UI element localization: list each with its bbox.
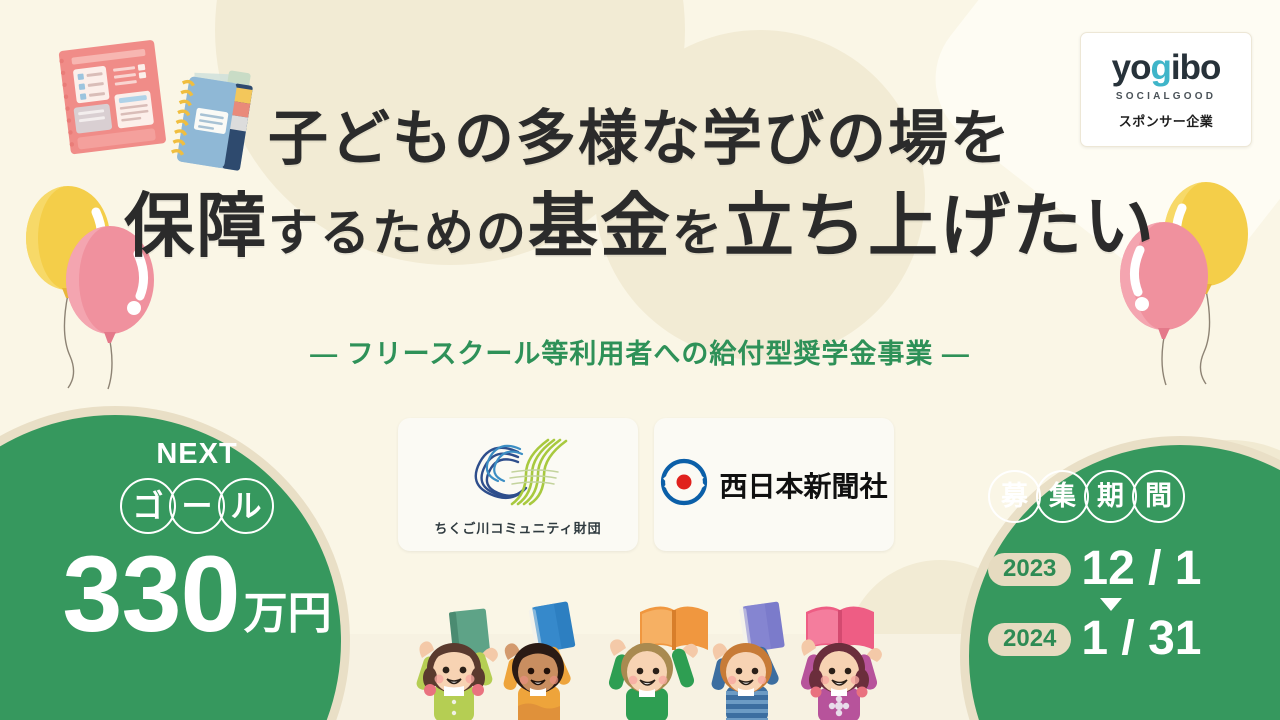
nishinippon-lockup: 西日本新聞社 [660,458,887,511]
page-subtitle: — フリースクール等利用者への給付型奨学金事業 — [0,332,1280,371]
banner-root: 子どもの多様な学びの場を 保障するための基金を立ち上げたい — フリースクール等… [0,0,1280,720]
nishinippon-swirl-logo-icon [660,458,708,511]
period-start-row: 2023 12 / 1 [988,545,1238,593]
yogibo-logo-icon: yogibo [1112,50,1221,85]
period-end-year: 2024 [988,623,1071,656]
title-emph-hosho: 保障 [124,187,268,265]
period-chip: 間 [1132,470,1185,523]
title-particle-wo: を [672,205,724,261]
partner-card-chikugogawa[interactable]: ちくご川コミュニティ財団 [398,418,638,551]
period-chip: 集 [1036,470,1089,523]
triangle-down-icon [1100,598,1122,611]
goal-chip: ゴ [120,478,176,534]
yogibo-brand-pre: yo [1112,50,1151,85]
period-start-year: 2023 [988,553,1071,586]
sponsor-tagline: SOCIALGOOD [1116,91,1216,102]
application-period-block: 募 集 期 間 2023 12 / 1 2024 1 / 31 [988,470,1238,663]
goal-amount-unit: 万円 [240,592,332,641]
period-chip: 募 [988,470,1041,523]
title-emph-kikin: 基金 [528,187,672,265]
next-goal-block: NEXT ゴ ー ル 330 万円 [52,440,342,641]
partner-logo-cards: ちくご川コミュニティ財団 西日本新聞社 [398,418,894,551]
goal-chip-row: ゴ ー ル [52,478,342,534]
next-label: NEXT [52,440,342,469]
sponsor-card[interactable]: yogibo SOCIALGOOD スポンサー企業 [1080,32,1252,147]
goal-chip: ー [169,478,225,534]
title-emph-tachiage: 立ち上げたい [724,187,1156,265]
goal-chip: ル [218,478,274,534]
period-end-row: 2024 1 / 31 [988,615,1238,663]
period-start-date: 12 / 1 [1081,545,1201,593]
partner-card-nishinippon[interactable]: 西日本新聞社 [654,418,894,551]
chikugogawa-river-logo-icon [460,432,576,511]
goal-amount-row: 330 万円 [52,548,342,641]
title-line-2: 保障するための基金を立ち上げたい [0,185,1280,268]
partner-card-name: 西日本新聞社 [719,465,887,505]
yogibo-brand-post: ibo [1171,50,1220,85]
partner-card-caption: ちくご川コミュニティ財団 [434,518,601,537]
period-chip: 期 [1084,470,1137,523]
period-chip-row: 募 集 期 間 [988,470,1238,523]
period-end-date: 1 / 31 [1081,615,1201,663]
yogibo-brand-g: g [1150,50,1170,85]
goal-amount-number: 330 [62,548,239,641]
sponsor-label: スポンサー企業 [1119,111,1214,130]
title-sub-suru: するための [268,205,528,261]
